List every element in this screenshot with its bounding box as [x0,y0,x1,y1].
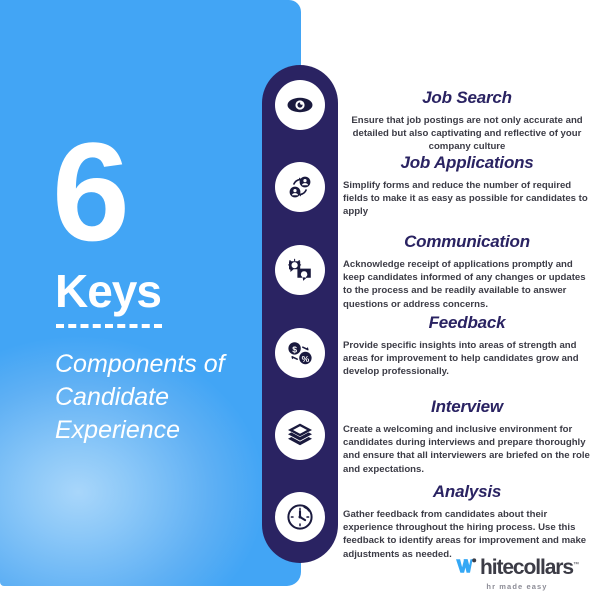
dashed-divider [56,324,162,328]
coins-exchange-icon: $ % [286,339,314,367]
hitecollars-mark-icon [455,557,477,580]
section-feedback: Feedback Provide specific insights into … [343,313,591,379]
svg-text:$: $ [292,344,297,354]
section-description: Simplify forms and reduce the number of … [343,179,591,219]
logo-trademark: ™ [573,562,579,568]
section-communication: Communication Acknowledge receipt of app… [343,232,591,311]
layers-icon [286,421,314,449]
icon-bubble-job-applications [275,162,325,212]
icon-bubble-interview [275,410,325,460]
icon-bubble-analysis [275,492,325,542]
icon-bubble-feedback: $ % [275,328,325,378]
section-title: Communication [343,232,591,252]
section-description: Create a welcoming and inclusive environ… [343,423,591,476]
left-blue-panel: 6 Keys Components of Candidate Experienc… [0,0,301,586]
section-title: Feedback [343,313,591,333]
svg-text:%: % [302,354,310,364]
section-title: Interview [343,397,591,417]
navy-icon-strip [262,65,338,563]
clock-icon [286,503,314,531]
eye-icon [286,91,314,119]
logo-lockup: hitecollars™ [455,556,579,580]
speech-bubble-idea-icon [286,256,314,284]
icon-bubble-communication [275,245,325,295]
section-title: Job Applications [343,153,591,173]
infographic-canvas: 6 Keys Components of Candidate Experienc… [0,0,600,600]
section-analysis: Analysis Gather feedback from candidates… [343,482,591,561]
section-title: Analysis [343,482,591,502]
section-interview: Interview Create a welcoming and inclusi… [343,397,591,476]
section-description: Gather feedback from candidates about th… [343,508,591,561]
section-description: Acknowledge receipt of applications prom… [343,258,591,311]
keys-label: Keys [55,268,161,314]
big-number: 6 [52,122,128,262]
section-job-search: Job Search Ensure that job postings are … [343,88,591,154]
icon-bubble-job-search [275,80,325,130]
panel-subtitle: Components of Candidate Experience [55,348,290,447]
brand-logo: hitecollars™ hr made easy [455,556,579,591]
section-job-applications: Job Applications Simplify forms and redu… [343,153,591,219]
logo-tagline: hr made easy [486,582,547,591]
section-description: Ensure that job postings are not only ac… [343,114,591,154]
section-description: Provide specific insights into areas of … [343,339,591,379]
logo-wordmark: hitecollars™ [480,556,579,580]
people-exchange-icon [286,173,314,201]
section-title: Job Search [343,88,591,108]
